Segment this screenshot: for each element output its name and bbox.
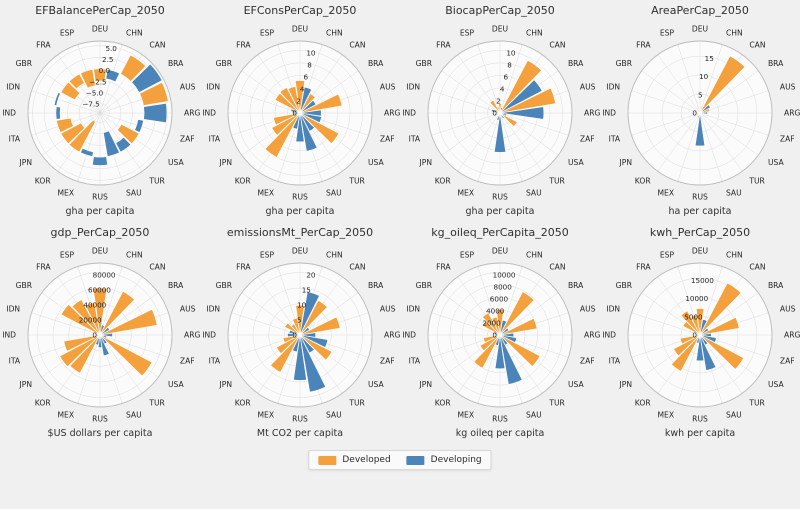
theta-label-deu: DEU [92,247,108,256]
theta-label-chn: CHN [726,251,743,260]
theta-label-kor: KOR [35,399,52,408]
theta-label-deu: DEU [92,25,108,34]
theta-label-usa: USA [768,158,785,167]
theta-label-arg: ARG [384,331,400,340]
theta-label-zaf: ZAF [380,135,395,144]
legend-item-developing[interactable]: Developing [407,455,482,465]
theta-label-ind: IND [602,109,616,118]
theta-label-gbr: GBR [616,281,633,290]
theta-label-ita: ITA [609,135,621,144]
polar-plot-area: DEUCHNCANBRAAUSARGZAFUSATURSAURUSMEXKORJ… [400,16,600,206]
theta-label-tur: TUR [148,399,165,408]
theta-label-deu: DEU [692,247,708,256]
theta-label-deu: DEU [292,247,308,256]
radial-tick-label: 10000 [685,294,708,303]
theta-label-aus: AUS [380,305,396,314]
theta-label-bra: BRA [568,59,584,68]
theta-label-esp: ESP [260,251,275,260]
theta-label-rus: RUS [92,415,108,424]
theta-label-fra: FRA [636,41,651,50]
subplot-xlabel: Mt CO2 per capita [200,428,400,439]
radial-tick-label: 10 [699,72,709,81]
subplot-6: kg_oileq_PerCapita_2050DEUCHNCANBRAAUSAR… [400,222,600,444]
theta-label-arg: ARG [784,109,800,118]
theta-label-gbr: GBR [416,59,433,68]
theta-label-aus: AUS [580,305,596,314]
theta-label-rus: RUS [492,193,508,202]
polar-axes: DEUCHNCANBRAAUSARGZAFUSATURSAURUSMEXKORJ… [0,238,200,428]
subplot-1: EFConsPerCap_2050DEUCHNCANBRAAUSARGZAFUS… [200,0,400,222]
theta-label-zaf: ZAF [380,357,395,366]
theta-label-kor: KOR [235,177,252,186]
radial-tick-label: 8000 [494,283,513,292]
figure-canvas: EFBalancePerCap_2050DEUCHNCANBRAAUSARGZA… [0,0,800,509]
radial-tick-label: 2000 [482,318,501,327]
theta-label-can: CAN [549,41,565,50]
theta-label-mex: MEX [257,410,274,419]
theta-label-arg: ARG [384,109,400,118]
radial-tick-label: 15 [705,54,714,63]
theta-label-fra: FRA [436,41,451,50]
theta-label-gbr: GBR [216,281,233,290]
theta-label-chn: CHN [326,251,343,260]
radial-tick-label: 0 [492,108,497,117]
polar-axes: DEUCHNCANBRAAUSARGZAFUSATURSAURUSMEXKORJ… [400,238,600,428]
theta-label-usa: USA [768,380,785,389]
polar-axes: DEUCHNCANBRAAUSARGZAFUSATURSAURUSMEXKORJ… [200,16,400,206]
radial-tick-label: 8 [507,61,512,70]
legend-item-developed[interactable]: Developed [318,455,390,465]
theta-label-usa: USA [168,158,185,167]
radial-tick-label: 4 [500,84,505,93]
theta-label-chn: CHN [726,29,743,38]
legend-label-developed: Developed [342,455,390,465]
theta-label-can: CAN [749,41,765,50]
theta-label-gbr: GBR [16,281,33,290]
radial-tick-label: 80000 [93,271,116,280]
theta-label-ind: IND [202,109,216,118]
theta-label-fra: FRA [636,263,651,272]
theta-label-tur: TUR [548,177,565,186]
theta-label-mex: MEX [257,188,274,197]
polar-axes: DEUCHNCANBRAAUSARGZAFUSATURSAURUSMEXKORJ… [600,16,800,206]
radial-tick-label: 5.0 [105,44,117,53]
theta-label-idn: IDN [206,83,220,92]
theta-label-deu: DEU [692,25,708,34]
polar-plot-area: DEUCHNCANBRAAUSARGZAFUSATURSAURUSMEXKORJ… [600,16,800,206]
theta-label-chn: CHN [526,251,543,260]
radial-tick-label: 10 [297,300,307,309]
polar-axes: DEUCHNCANBRAAUSARGZAFUSATURSAURUSMEXKORJ… [0,16,200,206]
theta-label-esp: ESP [660,251,675,260]
subplot-5: emissionsMt_PerCap_2050DEUCHNCANBRAAUSAR… [200,222,400,444]
theta-label-sau: SAU [526,410,542,419]
theta-label-aus: AUS [180,305,196,314]
subplot-4: gdp_PerCap_2050DEUCHNCANBRAAUSARGZAFUSAT… [0,222,200,444]
radial-tick-label: 0 [492,330,497,339]
theta-label-zaf: ZAF [180,135,195,144]
radial-tick-label: 2 [496,96,501,105]
theta-label-ind: IND [402,331,416,340]
theta-label-gbr: GBR [616,59,633,68]
theta-label-usa: USA [368,158,385,167]
theta-label-aus: AUS [380,83,396,92]
radial-tick-label: 60000 [88,286,111,295]
radial-tick-label: 5000 [684,312,703,321]
polar-bar[interactable] [92,157,107,166]
theta-label-can: CAN [149,263,165,272]
theta-label-idn: IDN [606,83,620,92]
radial-tick-label: 4 [300,84,305,93]
theta-label-esp: ESP [660,29,675,38]
theta-label-aus: AUS [180,83,196,92]
polar-plot-area: DEUCHNCANBRAAUSARGZAFUSATURSAURUSMEXKORJ… [200,238,400,428]
theta-label-ita: ITA [609,357,621,366]
theta-label-idn: IDN [606,305,620,314]
radial-tick-label: 15 [302,286,311,295]
theta-label-bra: BRA [168,281,184,290]
theta-label-tur: TUR [748,177,765,186]
theta-label-ita: ITA [9,135,21,144]
theta-label-idn: IDN [406,305,420,314]
theta-label-fra: FRA [436,263,451,272]
theta-label-can: CAN [549,263,565,272]
theta-label-jpn: JPN [419,158,433,167]
legend-label-developing: Developing [431,455,482,465]
theta-label-fra: FRA [236,263,251,272]
radial-tick-label: 15000 [691,276,714,285]
subplot-xlabel: kg oileq per capita [400,428,600,439]
theta-label-jpn: JPN [219,380,233,389]
legend-swatch-developing [407,456,425,465]
radial-tick-label: 10 [506,49,516,58]
theta-label-sau: SAU [526,188,542,197]
theta-label-bra: BRA [368,59,384,68]
subplot-xlabel: kwh per capita [600,428,800,439]
radial-tick-label: 0.0 [99,66,111,75]
theta-label-sau: SAU [126,188,142,197]
subplot-2: BiocapPerCap_2050DEUCHNCANBRAAUSARGZAFUS… [400,0,600,222]
theta-label-idn: IDN [6,305,20,314]
theta-label-chn: CHN [126,29,143,38]
radial-tick-label: −5.0 [86,88,104,97]
theta-label-aus: AUS [580,83,596,92]
radial-tick-label: 0 [692,108,697,117]
polar-plot-area: DEUCHNCANBRAAUSARGZAFUSATURSAURUSMEXKORJ… [400,238,600,428]
theta-label-rus: RUS [692,415,708,424]
theta-label-deu: DEU [492,25,508,34]
theta-label-usa: USA [368,380,385,389]
theta-label-rus: RUS [292,415,308,424]
theta-label-esp: ESP [460,29,475,38]
subplot-7: kwh_PerCap_2050DEUCHNCANBRAAUSARGZAFUSAT… [600,222,800,444]
theta-label-tur: TUR [348,177,365,186]
theta-label-sau: SAU [726,410,742,419]
theta-label-ita: ITA [209,357,221,366]
radial-tick-label: 20000 [79,315,102,324]
theta-label-fra: FRA [36,41,51,50]
radial-tick-label: 4000 [486,306,505,315]
theta-label-gbr: GBR [216,59,233,68]
theta-label-ind: IND [2,331,16,340]
theta-label-ind: IND [2,109,16,118]
theta-label-rus: RUS [492,415,508,424]
subplot-xlabel: gha per capita [200,206,400,217]
theta-label-jpn: JPN [219,158,233,167]
radial-tick-label: 10 [306,49,316,58]
polar-plot-area: DEUCHNCANBRAAUSARGZAFUSATURSAURUSMEXKORJ… [600,238,800,428]
theta-label-arg: ARG [184,109,200,118]
theta-label-rus: RUS [692,193,708,202]
theta-label-can: CAN [149,41,165,50]
theta-label-ita: ITA [409,135,421,144]
theta-label-kor: KOR [235,399,252,408]
polar-plot-area: DEUCHNCANBRAAUSARGZAFUSATURSAURUSMEXKORJ… [200,16,400,206]
radial-tick-label: 5 [698,90,703,99]
theta-label-arg: ARG [584,331,600,340]
theta-label-kor: KOR [635,399,652,408]
theta-label-zaf: ZAF [580,357,595,366]
theta-label-usa: USA [568,380,585,389]
polar-axes: DEUCHNCANBRAAUSARGZAFUSATURSAURUSMEXKORJ… [200,238,400,428]
polar-plot-area: DEUCHNCANBRAAUSARGZAFUSATURSAURUSMEXKORJ… [0,238,200,428]
theta-label-kor: KOR [35,177,52,186]
theta-label-can: CAN [749,263,765,272]
radial-tick-label: 2 [296,96,301,105]
theta-label-bra: BRA [368,281,384,290]
theta-label-mex: MEX [657,410,674,419]
radial-tick-label: 40000 [83,300,106,309]
theta-label-arg: ARG [584,109,600,118]
theta-label-bra: BRA [568,281,584,290]
theta-label-bra: BRA [768,281,784,290]
theta-label-idn: IDN [6,83,20,92]
theta-label-esp: ESP [60,29,75,38]
radial-tick-label: 5 [297,315,302,324]
theta-label-idn: IDN [406,83,420,92]
polar-bar[interactable] [56,107,61,120]
theta-label-sau: SAU [726,188,742,197]
legend: Developed Developing [308,450,491,470]
subplot-xlabel: $US dollars per capita [0,428,200,439]
theta-label-arg: ARG [784,331,800,340]
polar-bar[interactable] [144,103,167,122]
theta-label-gbr: GBR [16,59,33,68]
theta-label-esp: ESP [260,29,275,38]
theta-label-ita: ITA [409,357,421,366]
theta-label-aus: AUS [780,83,796,92]
theta-label-kor: KOR [435,399,452,408]
theta-label-tur: TUR [748,399,765,408]
theta-label-ind: IND [602,331,616,340]
theta-label-sau: SAU [126,410,142,419]
theta-label-zaf: ZAF [780,135,795,144]
radial-tick-label: 8 [307,61,312,70]
theta-label-mex: MEX [457,188,474,197]
theta-label-rus: RUS [92,193,108,202]
theta-label-usa: USA [168,380,185,389]
radial-tick-label: 0 [92,330,97,339]
radial-tick-label: 0 [292,330,297,339]
radial-tick-label: 6 [504,73,509,82]
theta-label-idn: IDN [206,305,220,314]
theta-label-ita: ITA [209,135,221,144]
theta-label-fra: FRA [236,41,251,50]
theta-label-zaf: ZAF [180,357,195,366]
subplot-xlabel: gha per capita [0,206,200,217]
theta-label-deu: DEU [492,247,508,256]
theta-label-bra: BRA [168,59,184,68]
theta-label-mex: MEX [457,410,474,419]
subplot-0: EFBalancePerCap_2050DEUCHNCANBRAAUSARGZA… [0,0,200,222]
theta-label-mex: MEX [57,410,74,419]
theta-label-tur: TUR [548,399,565,408]
polar-axes: DEUCHNCANBRAAUSARGZAFUSATURSAURUSMEXKORJ… [600,238,800,428]
theta-label-esp: ESP [460,251,475,260]
radial-tick-label: −2.5 [89,77,106,86]
subplot-xlabel: gha per capita [400,206,600,217]
radial-tick-label: 20 [306,271,316,280]
theta-label-deu: DEU [292,25,308,34]
polar-plot-area: DEUCHNCANBRAAUSARGZAFUSATURSAURUSMEXKORJ… [0,16,200,206]
subplot-3: AreaPerCap_2050DEUCHNCANBRAAUSARGZAFUSAT… [600,0,800,222]
polar-axes: DEUCHNCANBRAAUSARGZAFUSATURSAURUSMEXKORJ… [400,16,600,206]
theta-label-sau: SAU [326,410,342,419]
theta-label-bra: BRA [768,59,784,68]
radial-tick-label: −7.5 [82,100,99,109]
radial-tick-label: 6 [304,73,309,82]
theta-label-gbr: GBR [416,281,433,290]
theta-label-can: CAN [349,41,365,50]
theta-label-fra: FRA [36,263,51,272]
theta-label-jpn: JPN [19,380,33,389]
theta-label-esp: ESP [60,251,75,260]
theta-label-zaf: ZAF [780,357,795,366]
radial-tick-label: 10000 [493,271,516,280]
radial-tick-label: 2.5 [102,55,113,64]
theta-label-tur: TUR [348,399,365,408]
theta-label-kor: KOR [635,177,652,186]
theta-label-ita: ITA [9,357,21,366]
theta-label-mex: MEX [657,188,674,197]
theta-label-arg: ARG [184,331,200,340]
legend-swatch-developed [318,456,336,465]
radial-tick-label: 0 [692,330,697,339]
theta-label-jpn: JPN [19,158,33,167]
theta-label-chn: CHN [326,29,343,38]
theta-label-jpn: JPN [619,158,633,167]
theta-label-rus: RUS [292,193,308,202]
theta-label-chn: CHN [526,29,543,38]
theta-label-ind: IND [202,331,216,340]
radial-tick-label: 0 [292,108,297,117]
theta-label-jpn: JPN [619,380,633,389]
theta-label-kor: KOR [435,177,452,186]
theta-label-tur: TUR [148,177,165,186]
theta-label-sau: SAU [326,188,342,197]
theta-label-zaf: ZAF [580,135,595,144]
theta-label-jpn: JPN [419,380,433,389]
subplot-xlabel: ha per capita [600,206,800,217]
theta-label-chn: CHN [126,251,143,260]
theta-label-mex: MEX [57,188,74,197]
theta-label-can: CAN [349,263,365,272]
theta-label-aus: AUS [780,305,796,314]
subplot-grid: EFBalancePerCap_2050DEUCHNCANBRAAUSARGZA… [0,0,800,445]
theta-label-usa: USA [568,158,585,167]
radial-tick-label: 6000 [490,295,509,304]
theta-label-ind: IND [402,109,416,118]
